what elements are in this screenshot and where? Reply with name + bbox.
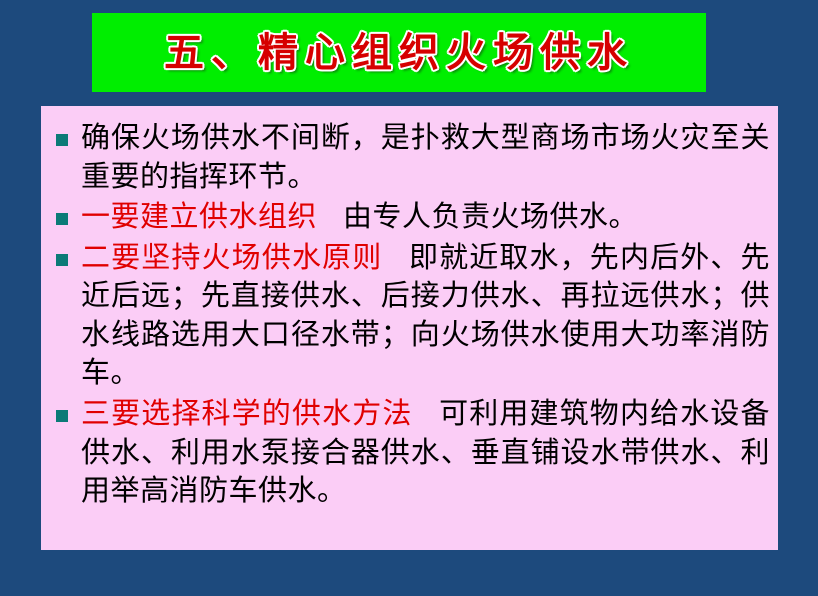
list-item: 确保火场供水不间断，是扑救大型商场市场火灾至关重要的指挥环节。 — [49, 118, 770, 195]
bullet-lead-2: 一要建立供水组织 — [81, 199, 317, 233]
bullet-text-1: 确保火场供水不间断，是扑救大型商场市场火灾至关重要的指挥环节。 — [81, 118, 770, 195]
presentation-slide: 五、精心组织火场供水 确保火场供水不间断，是扑救大型商场市场火灾至关重要的指挥环… — [0, 0, 818, 596]
title-banner: 五、精心组织火场供水 — [92, 13, 706, 92]
list-item: 一要建立供水组织由专人负责火场供水。 — [49, 197, 770, 236]
bullet-text-4: 三要选择科学的供水方法可利用建筑物内给水设备供水、利用水泵接合器供水、垂直铺设水… — [81, 394, 770, 510]
bullet-lead-3: 二要坚持火场供水原则 — [81, 240, 382, 274]
square-bullet-icon — [56, 213, 68, 225]
bullet-text-2: 一要建立供水组织由专人负责火场供水。 — [81, 197, 770, 236]
list-item: 二要坚持火场供水原则即就近取水，先内后外、先近后远；先直接供水、后接力供水、再拉… — [49, 238, 770, 392]
bullet-body-1: 确保火场供水不间断，是扑救大型商场市场火灾至关重要的指挥环节。 — [81, 120, 770, 193]
bullet-text-3: 二要坚持火场供水原则即就近取水，先内后外、先近后远；先直接供水、后接力供水、再拉… — [81, 238, 770, 392]
bullet-body-2: 由专人负责火场供水。 — [343, 199, 638, 233]
square-bullet-icon — [56, 134, 68, 146]
square-bullet-icon — [56, 254, 68, 266]
list-item: 三要选择科学的供水方法可利用建筑物内给水设备供水、利用水泵接合器供水、垂直铺设水… — [49, 394, 770, 510]
square-bullet-icon — [56, 410, 68, 422]
content-panel: 确保火场供水不间断，是扑救大型商场市场火灾至关重要的指挥环节。 一要建立供水组织… — [41, 106, 778, 550]
bullet-lead-4: 三要选择科学的供水方法 — [81, 396, 413, 430]
page-title: 五、精心组织火场供水 — [164, 33, 634, 73]
